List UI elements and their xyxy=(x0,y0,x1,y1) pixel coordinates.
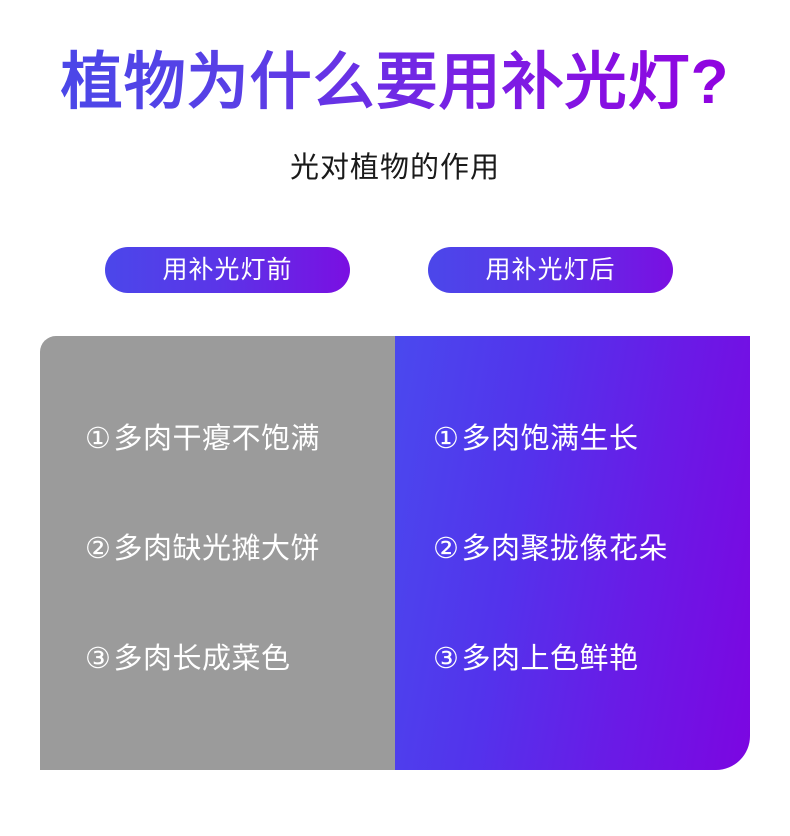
list-item-label: 多肉缺光摊大饼 xyxy=(114,534,321,564)
list-item: ② 多肉聚拢像花朵 xyxy=(395,534,750,644)
list-item-number: ③ xyxy=(433,644,460,674)
list-item-number: ② xyxy=(85,534,112,564)
list-item-number: ③ xyxy=(85,644,112,674)
page-subtitle-container: 光对植物的作用 xyxy=(0,148,790,188)
list-item-number: ② xyxy=(433,534,460,564)
list-item-label: 多肉长成菜色 xyxy=(114,644,291,674)
page-subtitle: 光对植物的作用 xyxy=(290,148,500,188)
list-item: ③ 多肉上色鲜艳 xyxy=(395,644,750,754)
tab-bar: 用补光灯前 用补光灯后 xyxy=(40,247,750,293)
comparison-column-after: ① 多肉饱满生长 ② 多肉聚拢像花朵 ③ 多肉上色鲜艳 xyxy=(395,336,750,770)
list-item-label: 多肉聚拢像花朵 xyxy=(462,534,669,564)
comparison-panel: ① 多肉干瘪不饱满 ② 多肉缺光摊大饼 ③ 多肉长成菜色 ① 多肉饱满生长 ② … xyxy=(40,336,750,770)
list-item-number: ① xyxy=(85,424,112,454)
list-item: ③ 多肉长成菜色 xyxy=(40,644,395,754)
promo-page: 植物为什么要用补光灯? 光对植物的作用 用补光灯前 用补光灯后 ① 多肉干瘪不饱… xyxy=(0,0,790,836)
list-item-label: 多肉上色鲜艳 xyxy=(462,644,639,674)
list-item-label: 多肉干瘪不饱满 xyxy=(114,424,321,454)
comparison-column-before: ① 多肉干瘪不饱满 ② 多肉缺光摊大饼 ③ 多肉长成菜色 xyxy=(40,336,395,770)
list-item: ② 多肉缺光摊大饼 xyxy=(40,534,395,644)
list-item-number: ① xyxy=(433,424,460,454)
list-item: ① 多肉饱满生长 xyxy=(395,424,750,534)
page-title: 植物为什么要用补光灯? xyxy=(61,46,730,120)
list-item-label: 多肉饱满生长 xyxy=(462,424,639,454)
tab-after-light[interactable]: 用补光灯后 xyxy=(428,247,673,293)
list-item: ① 多肉干瘪不饱满 xyxy=(40,424,395,534)
tab-before-light[interactable]: 用补光灯前 xyxy=(105,247,350,293)
page-title-container: 植物为什么要用补光灯? xyxy=(0,46,790,120)
